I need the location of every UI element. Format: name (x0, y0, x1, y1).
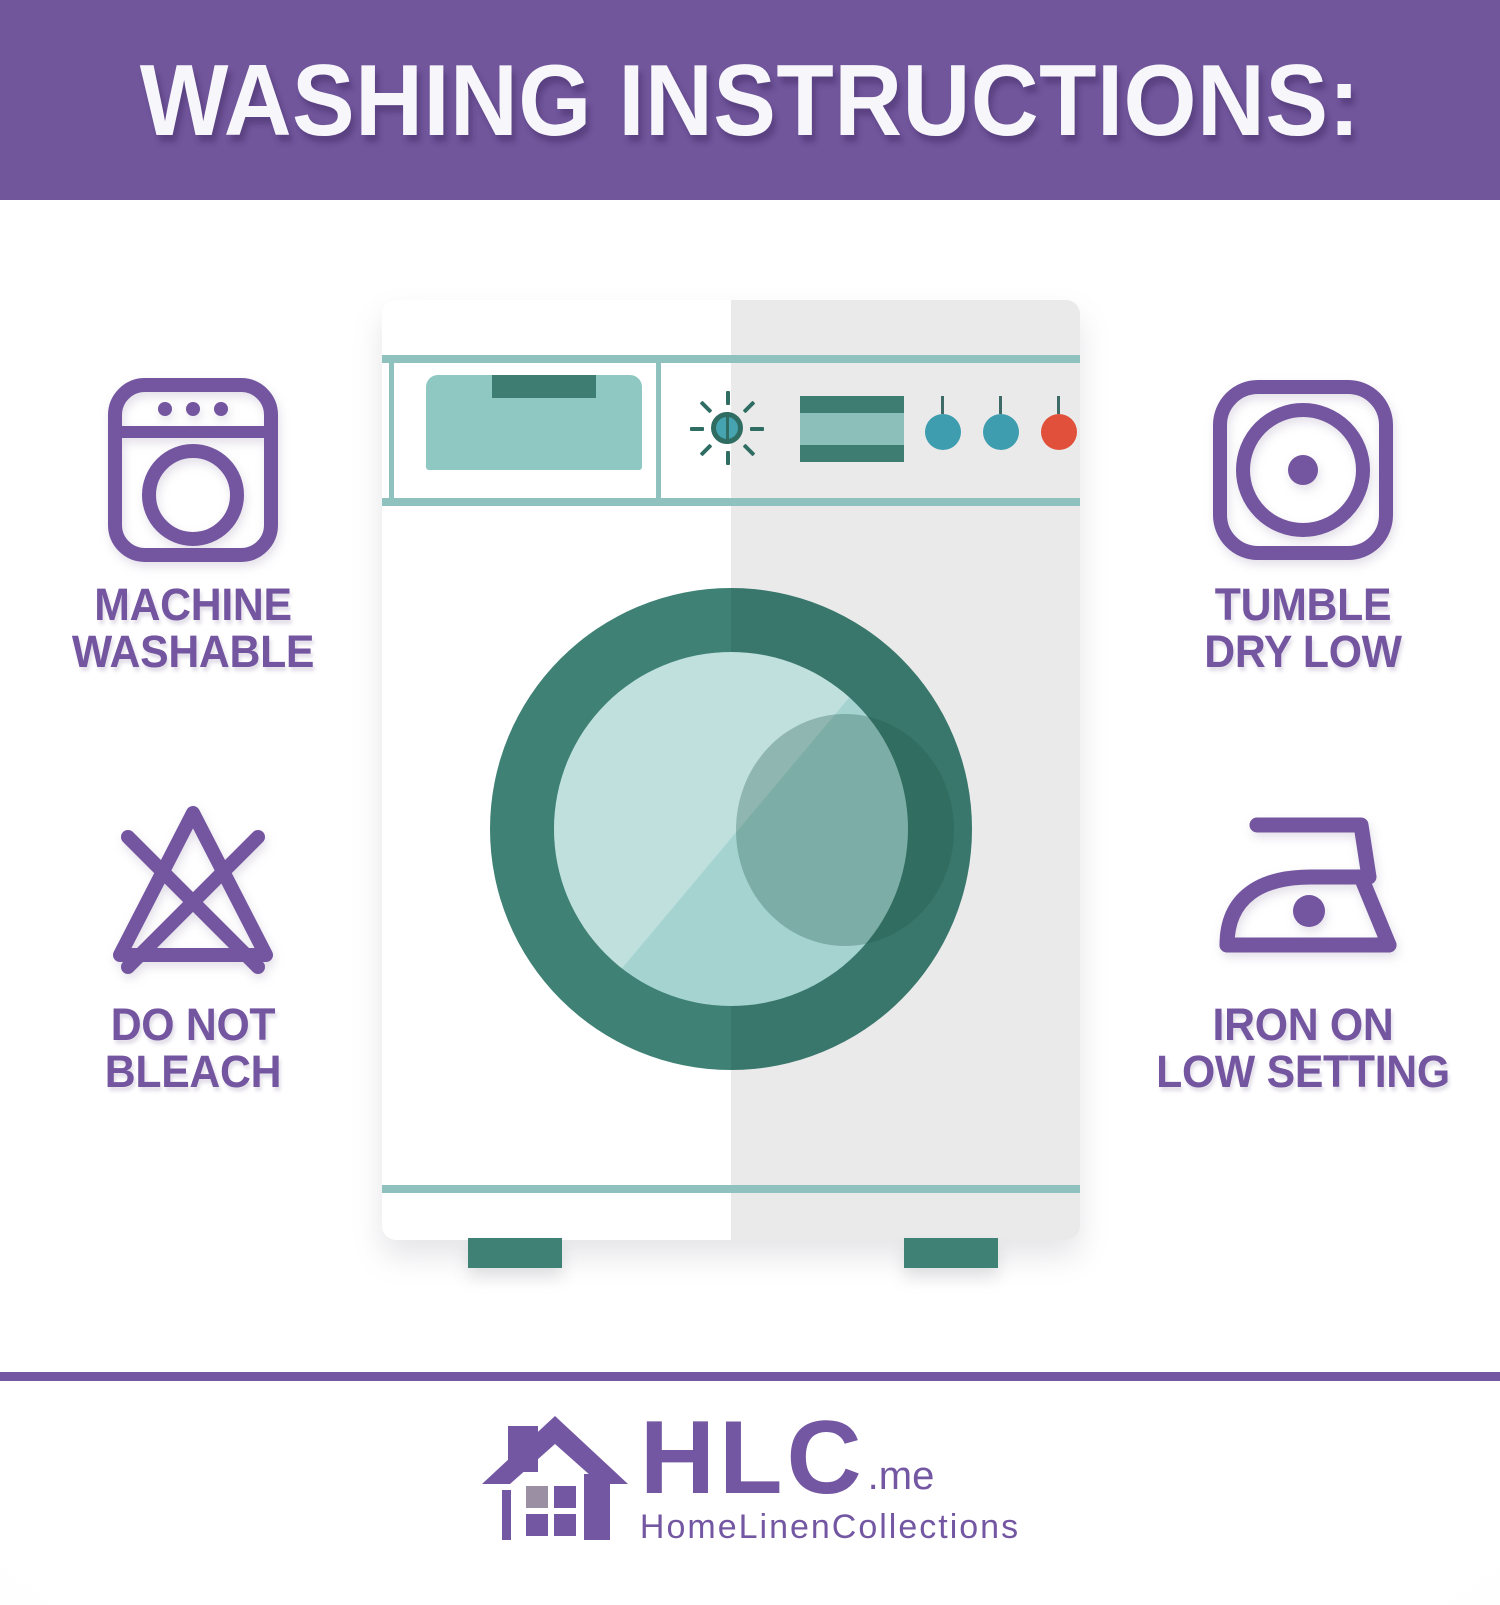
washer-body (382, 300, 1080, 1240)
washer-door-drum[interactable] (490, 588, 972, 1070)
control-dial[interactable] (696, 397, 758, 459)
care-symbol-iron-low: IRON ON LOW SETTING (1138, 795, 1468, 1095)
dial-tick-sw (700, 444, 713, 457)
knob-stem-3 (1057, 396, 1060, 414)
logo-tld: .me (868, 1452, 935, 1500)
control-dial-needle (726, 412, 729, 444)
knob-red[interactable] (1041, 414, 1077, 450)
logo-wordmark: HLC .me (640, 1410, 1020, 1506)
dial-tick-w (690, 427, 704, 431)
logo-tagline: HomeLinenCollections (640, 1508, 1020, 1546)
dial-tick-s (726, 451, 730, 465)
washer-foot-left (468, 1238, 562, 1268)
footer-divider (0, 1372, 1500, 1381)
care-symbol-label-machine-washable: MACHINE WASHABLE (36, 581, 350, 675)
no-bleach-triangle-icon (28, 795, 358, 985)
washer-foot-right (904, 1238, 998, 1268)
dial-tick-e (750, 427, 764, 431)
house-logo-icon (480, 1408, 630, 1553)
washer-bottom-rule (382, 1185, 1080, 1193)
care-symbol-do-not-bleach: DO NOT BLEACH (28, 795, 358, 1095)
tumble-dry-icon (1138, 375, 1468, 565)
washing-machine-illustration (376, 300, 1086, 1260)
washing-machine-icon (28, 375, 358, 565)
page-title: WASHING INSTRUCTIONS: (53, 42, 1448, 160)
dial-tick-nw (700, 401, 713, 414)
footer-logo[interactable]: HLC .me HomeLinenCollections (0, 1408, 1500, 1553)
logo-brand: HLC (640, 1410, 866, 1506)
display-screen-top-bar (800, 396, 904, 413)
care-symbol-label-do-not-bleach: DO NOT BLEACH (36, 1001, 350, 1095)
display-screen (800, 396, 904, 462)
care-symbol-label-tumble-dry-low: TUMBLE DRY LOW (1146, 581, 1460, 675)
dial-tick-n (726, 391, 730, 405)
knob-stem-1 (941, 396, 944, 414)
header-band: WASHING INSTRUCTIONS: (0, 0, 1500, 200)
dial-tick-ne (743, 401, 756, 414)
knob-teal-2[interactable] (983, 414, 1019, 450)
detergent-drawer-handle[interactable] (492, 375, 596, 398)
knob-stem-2 (999, 396, 1002, 414)
infographic-page: WASHING INSTRUCTIONS: MACHINE WASHABLE D… (0, 0, 1500, 1605)
care-symbol-label-iron-low: IRON ON LOW SETTING (1146, 1001, 1460, 1095)
logo-text-block: HLC .me HomeLinenCollections (640, 1408, 1020, 1546)
care-symbol-tumble-dry-low: TUMBLE DRY LOW (1138, 375, 1468, 675)
dial-tick-se (743, 444, 756, 457)
knob-teal-1[interactable] (925, 414, 961, 450)
display-screen-bottom-bar (800, 445, 904, 462)
iron-icon (1138, 795, 1468, 985)
care-symbol-machine-washable: MACHINE WASHABLE (28, 375, 358, 675)
washer-door-inner-shadow (736, 714, 954, 946)
